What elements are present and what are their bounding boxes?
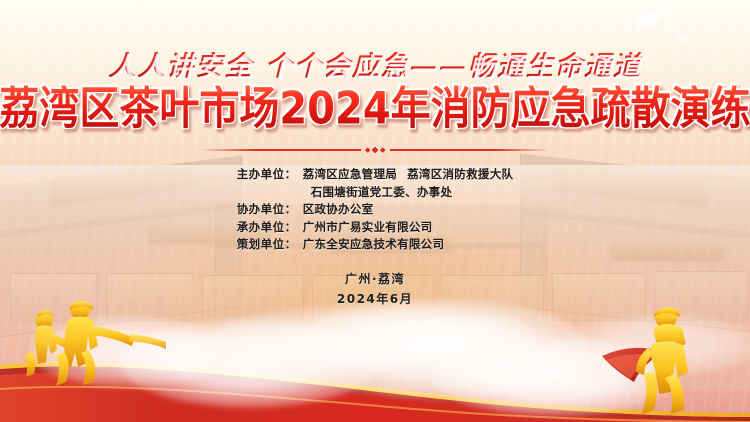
poster-footer: 广州·荔湾 2024年6月 [337, 269, 413, 309]
organizer-row-host: 主办单位： 荔湾区应急管理局荔湾区消防救援大队 [237, 166, 514, 184]
diamond-icon [369, 144, 380, 155]
footer-date: 2024年6月 [337, 289, 413, 309]
organizer-value-a: 荔湾区应急管理局 [303, 167, 397, 181]
organizer-label: 策划单位： [237, 236, 303, 254]
organizer-label: 承办单位： [237, 219, 303, 237]
poster-content: 人人讲安全 个个会应急——畅通生命通道 荔湾区茶叶市场2024年消防应急疏散演练… [0, 0, 750, 422]
organizer-value: 荔湾区应急管理局荔湾区消防救援大队 [303, 166, 514, 184]
organizer-label: 主办单位： [237, 166, 303, 184]
organizer-value-b: 荔湾区消防救援大队 [407, 167, 513, 181]
organizer-value: 区政协办公室 [303, 201, 374, 219]
organizer-host-continuation: 石围塘街道党工委、办事处 [237, 184, 514, 202]
divider-ornament [366, 146, 385, 154]
poster-canvas: 人人讲安全 个个会应急——畅通生命通道 荔湾区茶叶市场2024年消防应急疏散演练… [0, 0, 750, 422]
organizer-row-coorganizer: 协办单位： 区政协办公室 [237, 201, 514, 219]
organizer-row-planner: 策划单位： 广东全安应急技术有限公司 [237, 236, 514, 254]
organizer-row-undertaker: 承办单位： 广州市广易实业有限公司 [237, 219, 514, 237]
organizer-value: 广东全安应急技术有限公司 [303, 236, 445, 254]
organizer-value: 广州市广易实业有限公司 [303, 219, 433, 237]
organizer-label: 协办单位： [237, 201, 303, 219]
footer-location: 广州·荔湾 [337, 269, 413, 289]
poster-main-title: 荔湾区茶叶市场2024年消防应急疏散演练 [0, 85, 750, 132]
diamond-pip-icon [380, 148, 385, 153]
divider-rule-left [200, 149, 361, 151]
divider-rule-right [390, 149, 551, 151]
organizer-block: 主办单位： 荔湾区应急管理局荔湾区消防救援大队 石围塘街道党工委、办事处 协办单… [237, 166, 514, 254]
ornamental-divider [200, 144, 550, 156]
poster-subtitle: 人人讲安全 个个会应急——畅通生命通道 [108, 52, 641, 82]
